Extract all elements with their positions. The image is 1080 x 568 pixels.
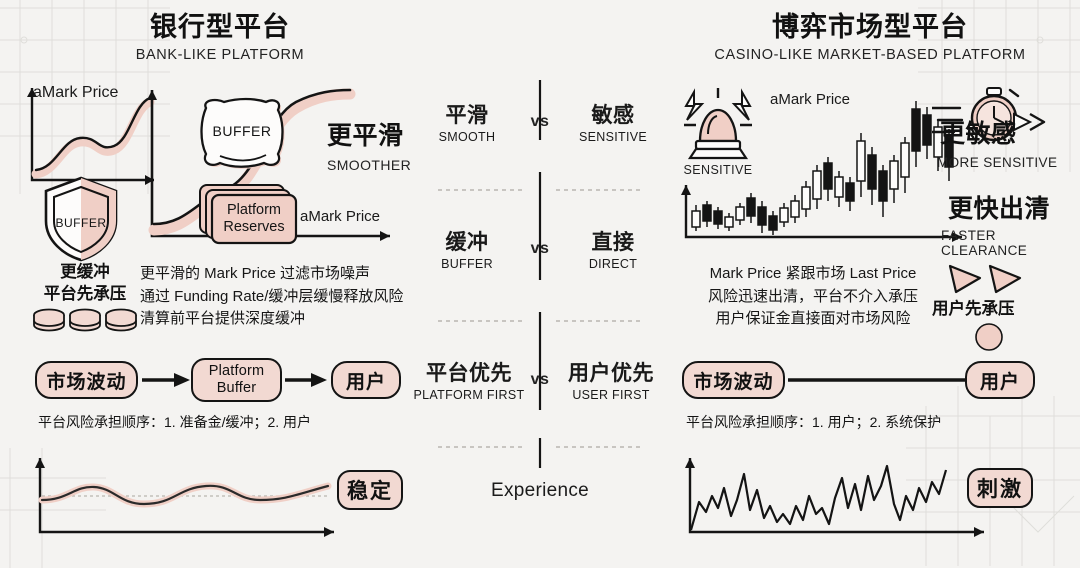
left-flow-node-2[interactable]: 用户 bbox=[331, 361, 401, 399]
compare-row-2-left-cn: 平台优先 bbox=[413, 363, 525, 385]
compare-row-0-right-en: SENSITIVE bbox=[561, 130, 665, 144]
right-bullet-0: Mark Price 紧跟市场 Last Price bbox=[688, 263, 938, 286]
compare-row-1-right-cn: 直接 bbox=[561, 232, 665, 254]
right-flow-node-0[interactable]: 市场波动 bbox=[682, 361, 785, 399]
left-side-tag-line2: 平台先承压 bbox=[30, 284, 140, 306]
svg-text:BUFFER: BUFFER bbox=[56, 216, 107, 230]
left-panel-subtitle: BANK-LIKE PLATFORM bbox=[55, 47, 385, 63]
left-flow-node-1[interactable]: Platform Buffer bbox=[191, 358, 282, 402]
reserves-line1: Platform bbox=[227, 202, 281, 218]
left-flow-node-1-line2: Buffer bbox=[217, 380, 257, 397]
right-flow-node-1[interactable]: 用户 bbox=[965, 361, 1035, 399]
compare-row-1-left: 缓冲 BUFFER bbox=[415, 232, 519, 271]
infographic-canvas: 银行型平台 BANK-LIKE PLATFORM aMark Price BUF… bbox=[0, 0, 1080, 556]
compare-row-0-right: 敏感 SENSITIVE bbox=[561, 105, 665, 144]
compare-row-0-right-cn: 敏感 bbox=[561, 105, 665, 127]
compare-footer: Experience bbox=[410, 480, 670, 502]
left-bullet-0: 更平滑的 Mark Price 过滤市场噪声 bbox=[140, 263, 403, 286]
right-flow-note: 平台风险承担顺序：1. 用户；2. 系统保护 bbox=[686, 412, 941, 432]
right-bullet-2: 用户保证金直接面对市场风险 bbox=[688, 308, 938, 331]
compare-row-1-vs: vs bbox=[519, 232, 561, 258]
left-bullet-1: 通过 Funding Rate/缓冲层缓慢释放风险 bbox=[140, 286, 403, 309]
left-panel-title: 银行型平台 bbox=[55, 14, 385, 41]
right-flow-arrow-0 bbox=[788, 373, 984, 387]
svg-text:BUFFER: BUFFER bbox=[213, 123, 272, 139]
left-bullet-2: 清算前平台提供深度缓冲 bbox=[140, 308, 403, 331]
left-headline-en: SMOOTHER bbox=[327, 157, 411, 173]
left-headline-cn: 更平滑 bbox=[327, 123, 404, 149]
right-headline2-cn: 更快出清 bbox=[948, 196, 1050, 222]
compare-row-0-left-en: SMOOTH bbox=[415, 130, 519, 144]
compare-row-2-vs: vs bbox=[525, 363, 555, 389]
right-side-tag: 用户先承压 bbox=[932, 299, 1015, 321]
compare-row-1-left-cn: 缓冲 bbox=[415, 232, 519, 254]
compare-dash-0 bbox=[438, 189, 642, 191]
left-flow-note: 平台风险承担顺序：1. 准备金/缓冲；2. 用户 bbox=[38, 412, 311, 432]
right-headline-en: MORE SENSITIVE bbox=[937, 155, 1057, 170]
left-result-badge[interactable]: 稳定 bbox=[337, 470, 403, 510]
compare-row-1-left-en: BUFFER bbox=[415, 257, 519, 271]
left-curve-label: aMark Price bbox=[300, 208, 380, 225]
compare-row-2: 平台优先 PLATFORM FIRST vs 用户优先 USER FIRST bbox=[404, 363, 676, 402]
left-bullets: 更平滑的 Mark Price 过滤市场噪声 通过 Funding Rate/缓… bbox=[140, 263, 403, 331]
right-bullets: Mark Price 紧跟市场 Last Price 风险迅速出清，平台不介入承… bbox=[688, 263, 938, 331]
compare-column: 平滑 SMOOTH vs 敏感 SENSITIVE 缓冲 BUFFER vs 直… bbox=[410, 0, 670, 556]
left-panel: 银行型平台 BANK-LIKE PLATFORM aMark Price BUF… bbox=[0, 0, 430, 556]
left-flow-arrow-0 bbox=[142, 373, 192, 387]
compare-dash-1 bbox=[438, 320, 642, 322]
right-bullet-1: 风险迅速出清，平台不介入承压 bbox=[688, 286, 938, 309]
stacked-cards-icon: Platform Reserves bbox=[196, 183, 306, 252]
dot-icon bbox=[974, 322, 1004, 352]
right-panel-title: 博弈市场型平台 bbox=[685, 14, 1055, 41]
compare-row-0-left: 平滑 SMOOTH bbox=[415, 105, 519, 144]
compare-row-2-left-en: PLATFORM FIRST bbox=[413, 388, 525, 402]
compare-row-2-left: 平台优先 PLATFORM FIRST bbox=[413, 363, 525, 402]
compare-row-1-right-en: DIRECT bbox=[561, 257, 665, 271]
right-candlestick-chart bbox=[674, 85, 974, 245]
compare-row-0-left-cn: 平滑 bbox=[415, 105, 519, 127]
double-chevron-icon bbox=[946, 262, 1036, 296]
pillow-icon: BUFFER bbox=[196, 96, 288, 172]
compare-row-1: 缓冲 BUFFER vs 直接 DIRECT bbox=[410, 232, 670, 271]
right-volatility-chart bbox=[678, 452, 998, 544]
compare-row-2-right-cn: 用户优先 bbox=[555, 363, 667, 385]
compare-row-2-right: 用户优先 USER FIRST bbox=[555, 363, 667, 402]
left-flow-node-0[interactable]: 市场波动 bbox=[35, 361, 138, 399]
right-panel: 博弈市场型平台 CASINO-LIKE MARKET-BASED PLATFOR… bbox=[660, 0, 1080, 556]
shield-icon: BUFFER bbox=[40, 175, 122, 263]
left-side-tag: 更缓冲 平台先承压 bbox=[30, 262, 140, 306]
right-result-badge[interactable]: 刺激 bbox=[967, 468, 1033, 508]
compare-row-0: 平滑 SMOOTH vs 敏感 SENSITIVE bbox=[410, 105, 670, 144]
compare-row-2-right-en: USER FIRST bbox=[555, 388, 667, 402]
right-headline2-en: FASTER CLEARANCE bbox=[941, 228, 1080, 258]
compare-row-0-vs: vs bbox=[519, 105, 561, 131]
compare-dash-2 bbox=[438, 446, 642, 448]
right-headline-cn: 更敏感 bbox=[940, 121, 1017, 147]
left-side-tag-line1: 更缓冲 bbox=[30, 262, 140, 284]
right-panel-subtitle: CASINO-LIKE MARKET-BASED PLATFORM bbox=[685, 47, 1055, 63]
left-flow-node-1-line1: Platform bbox=[209, 363, 265, 380]
left-flow-arrow-1 bbox=[285, 373, 329, 387]
reserves-line2: Reserves bbox=[223, 219, 284, 235]
coin-stack-icon bbox=[31, 306, 139, 336]
left-stability-chart bbox=[28, 452, 348, 544]
compare-row-1-right: 直接 DIRECT bbox=[561, 232, 665, 271]
left-chart-label: aMark Price bbox=[33, 84, 118, 102]
